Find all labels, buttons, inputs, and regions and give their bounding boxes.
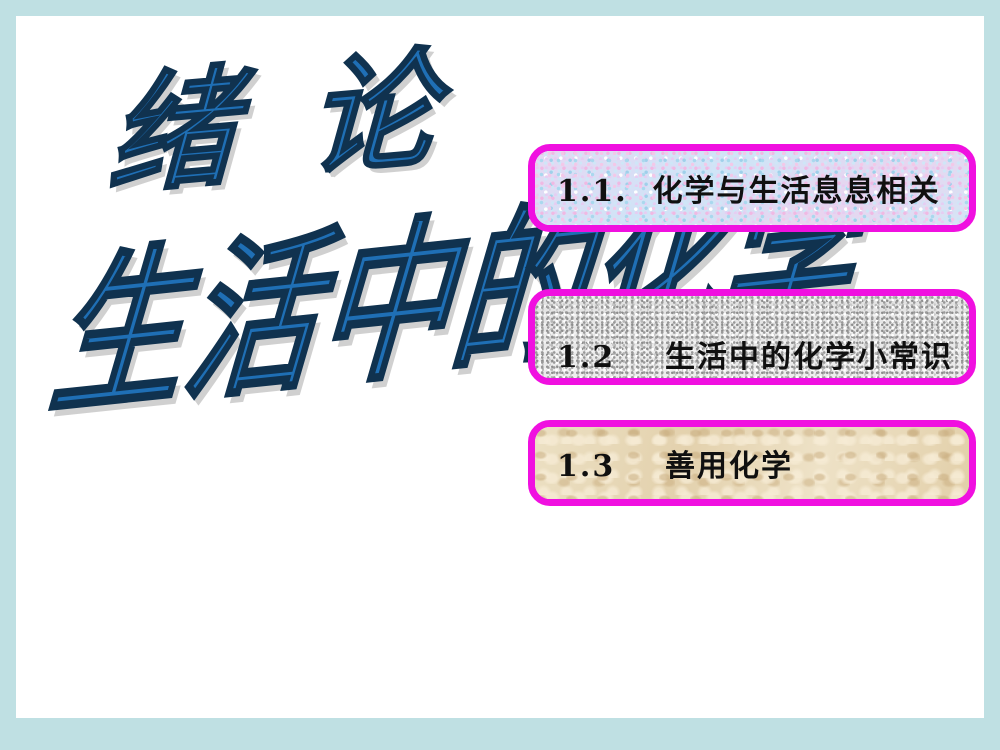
topic-box-1-2[interactable]: 1.2 生活中的化学小常识 bbox=[528, 289, 976, 385]
topic-box-1-3[interactable]: 1.3 善用化学 bbox=[528, 420, 976, 506]
topic-box-1-3-content: 1.3 善用化学 bbox=[535, 427, 969, 499]
topic-box-1-1-label: 1.1. 化学与生活息息相关 bbox=[557, 166, 941, 210]
slide-canvas: 绪 论 生活中的化学 1.1. 化学与生活息息相关 1.2 生活中的化学小常识 … bbox=[16, 16, 984, 718]
topic-box-1-2-label: 1.2 生活中的化学小常识 bbox=[557, 332, 953, 376]
slide-title-main: 绪 论 bbox=[106, 44, 452, 203]
slide: 绪 论 生活中的化学 1.1. 化学与生活息息相关 1.2 生活中的化学小常识 … bbox=[0, 0, 1000, 750]
topic-box-1-3-label: 1.3 善用化学 bbox=[557, 441, 793, 485]
topic-box-1-1-content: 1.1. 化学与生活息息相关 bbox=[535, 151, 969, 225]
topic-box-1-2-content: 1.2 生活中的化学小常识 bbox=[535, 296, 969, 378]
topic-box-1-1[interactable]: 1.1. 化学与生活息息相关 bbox=[528, 144, 976, 232]
